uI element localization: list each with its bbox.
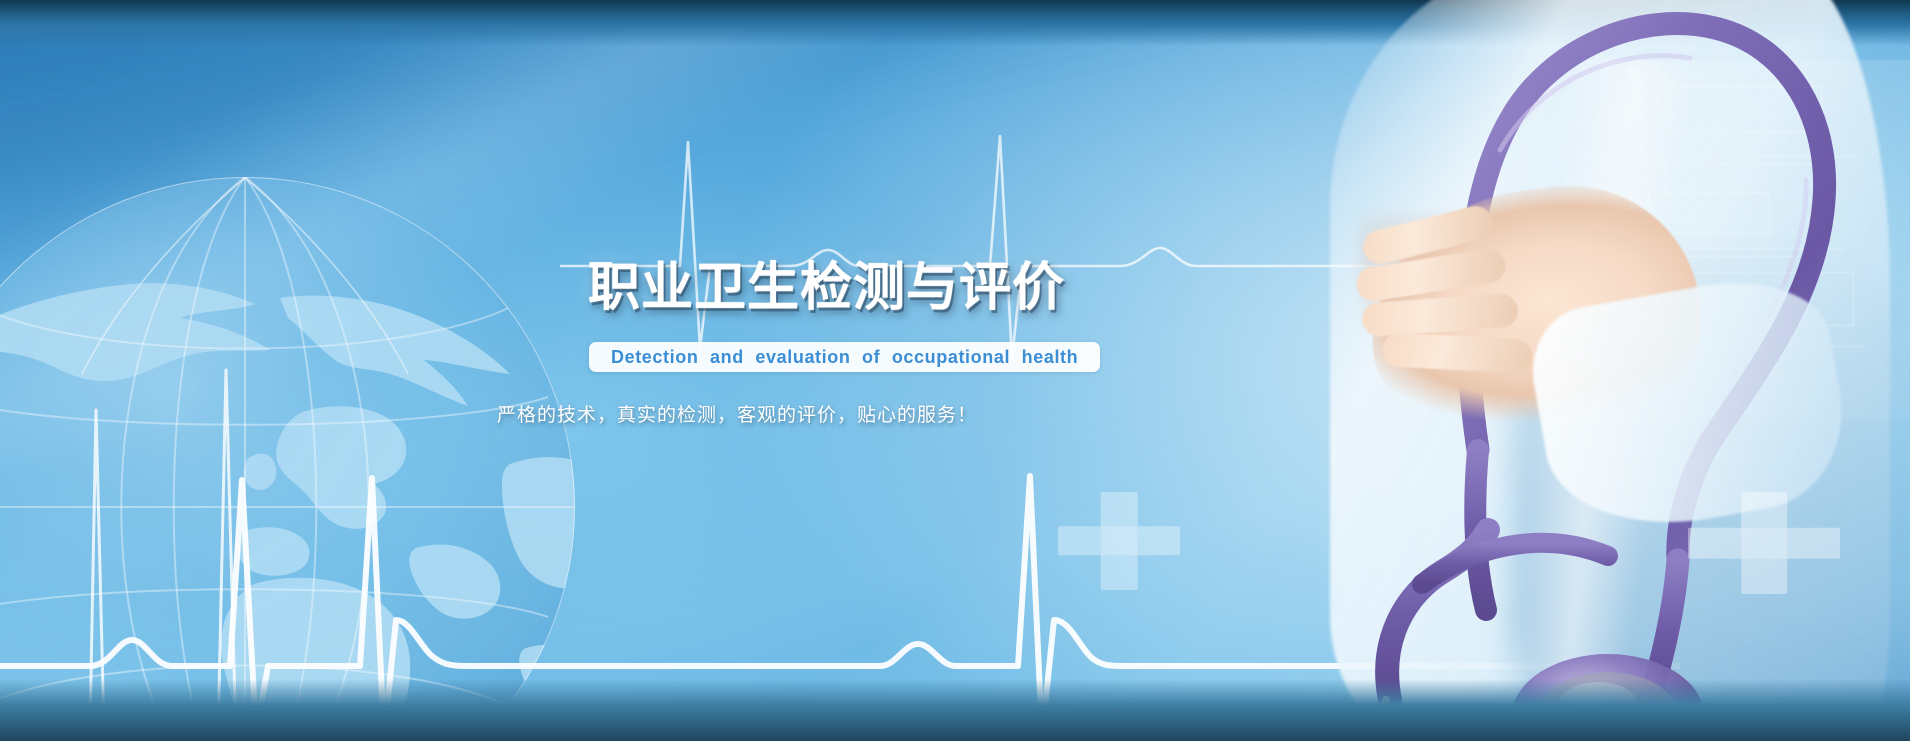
banner-tagline: 严格的技术，真实的检测，客观的评价，贴心的服务！	[497, 400, 977, 427]
banner-text-block: 职业卫生检测与评价 Detection and evaluation of oc…	[0, 0, 1910, 741]
banner-subtitle: Detection and evaluation of occupational…	[611, 347, 1078, 368]
subtitle-pill: Detection and evaluation of occupational…	[589, 342, 1100, 372]
occupational-health-banner: 职业卫生检测与评价 Detection and evaluation of oc…	[0, 0, 1910, 741]
banner-title: 职业卫生检测与评价	[588, 262, 1065, 314]
